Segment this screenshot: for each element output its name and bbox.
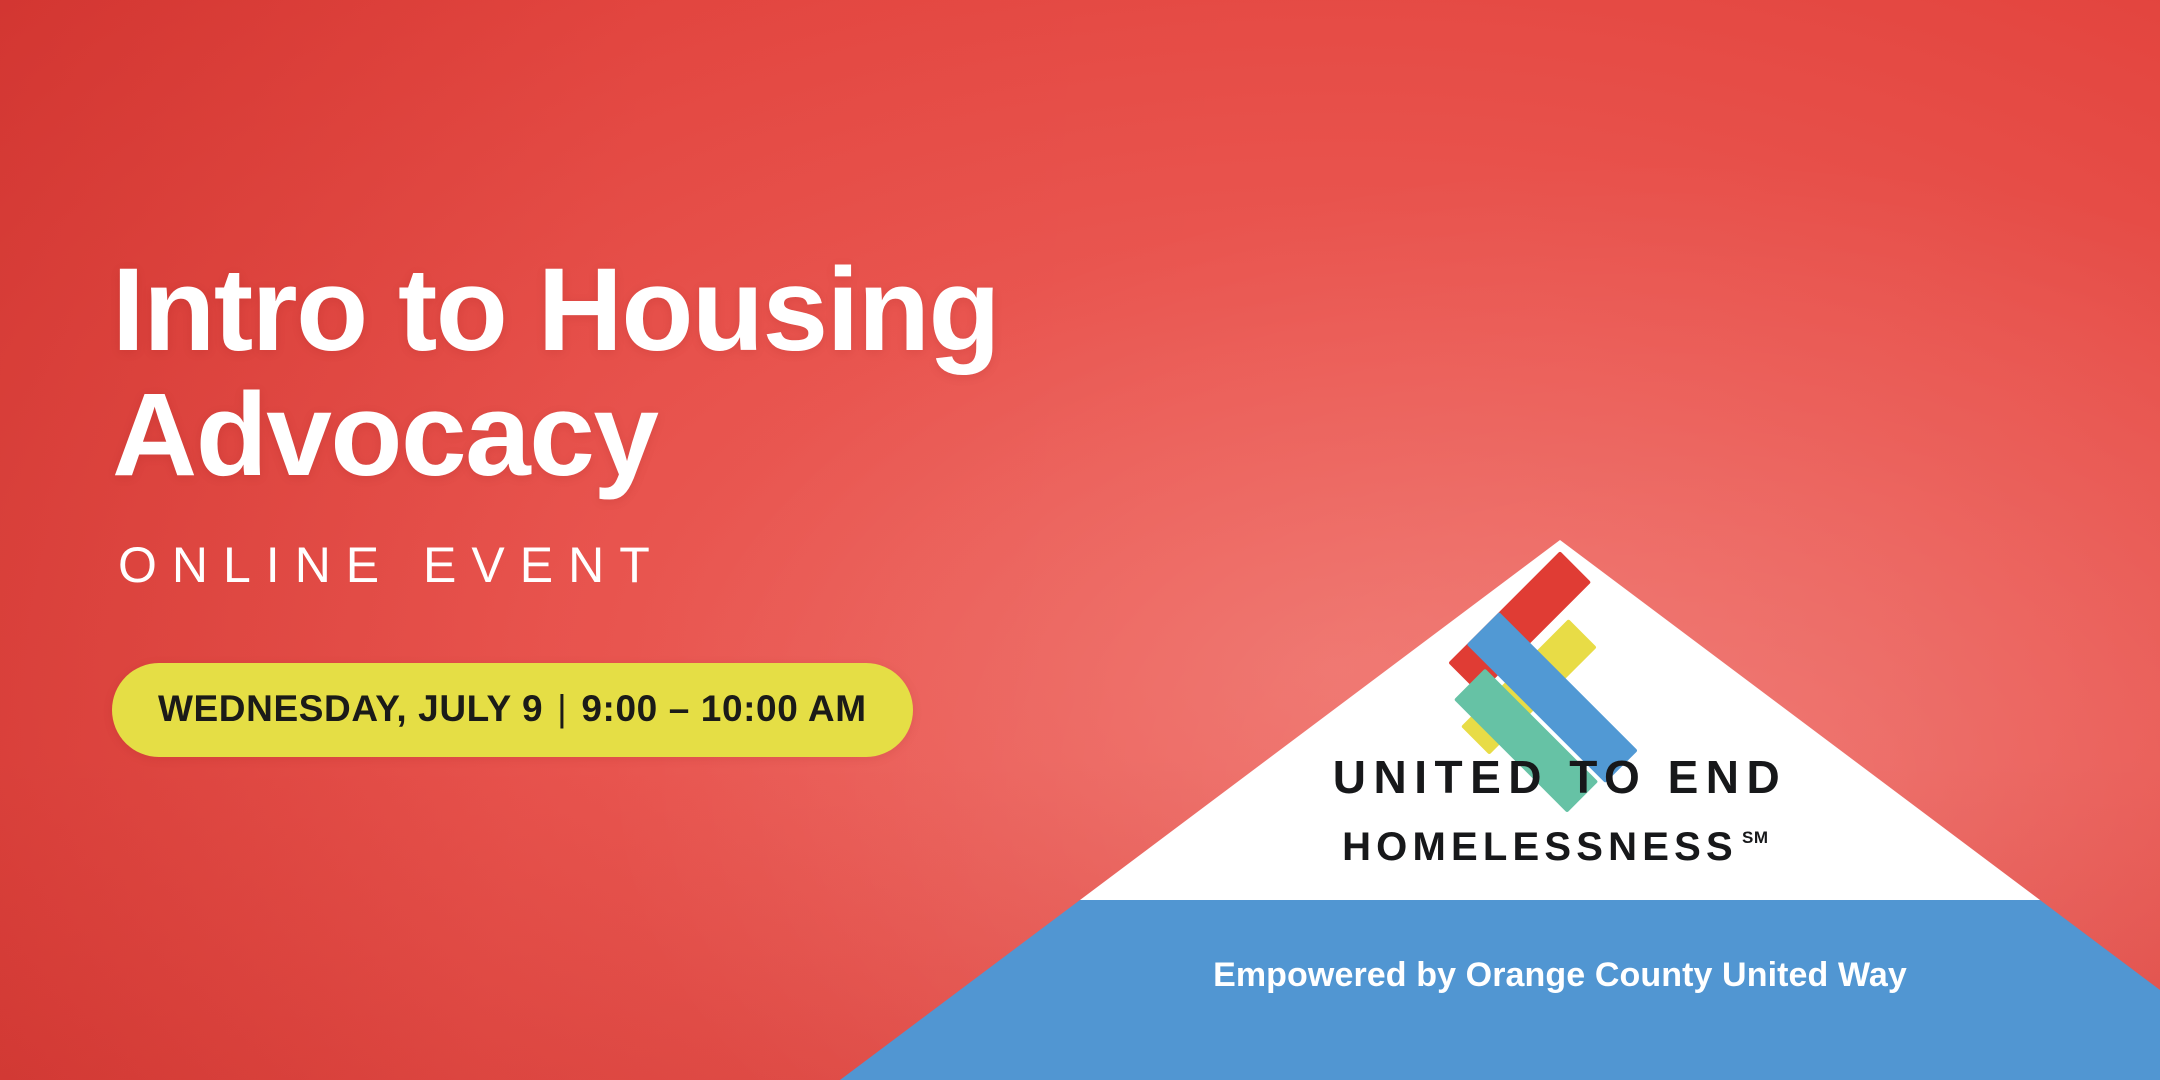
date-time-separator: | bbox=[543, 688, 581, 730]
org-name-line-1: UNITED TO END bbox=[1333, 751, 1787, 803]
page-title: Intro to Housing Advocacy bbox=[112, 248, 1192, 498]
org-tagline: Empowered by Orange County United Way bbox=[1213, 956, 1907, 994]
event-time-text: 9:00 – 10:00 AM bbox=[581, 688, 866, 729]
date-time-badge: WEDNESDAY, JULY 9|9:00 – 10:00 AM bbox=[112, 663, 913, 757]
organization-logo: UNITED TO END HOMELESSNESS SM Empowered … bbox=[960, 540, 2160, 1080]
service-mark-icon: SM bbox=[1742, 828, 1769, 847]
event-banner: Intro to Housing Advocacy ONLINE EVENT W… bbox=[0, 0, 2160, 1080]
event-date-text: WEDNESDAY, JULY 9 bbox=[158, 688, 543, 729]
org-name-line-2: HOMELESSNESS bbox=[1342, 825, 1738, 869]
